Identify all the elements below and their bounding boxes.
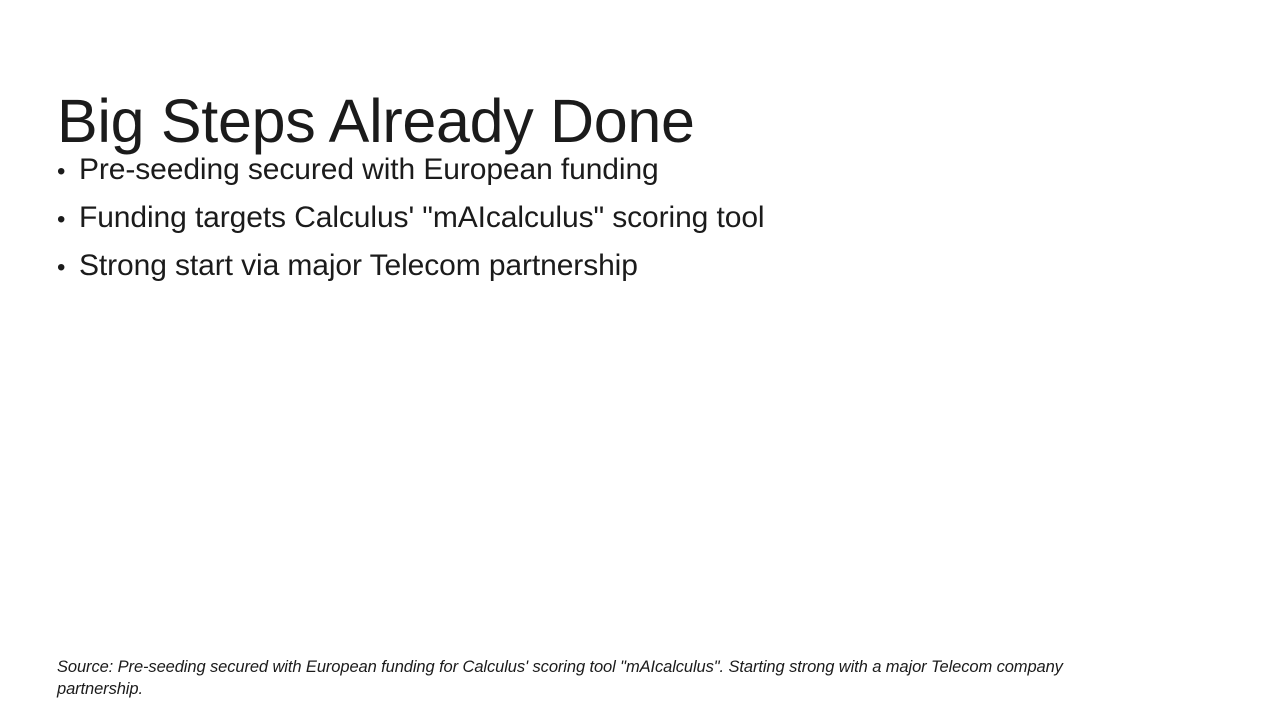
- list-item-label: Funding targets Calculus' "mAIcalculus" …: [79, 203, 764, 233]
- list-item-label: Strong start via major Telecom partnersh…: [79, 251, 638, 281]
- list-item-label: Pre-seeding secured with European fundin…: [79, 155, 659, 185]
- bullet-list: • Pre-seeding secured with European fund…: [57, 155, 1177, 299]
- list-item: • Funding targets Calculus' "mAIcalculus…: [57, 203, 1177, 251]
- page-title: Big Steps Already Done: [57, 89, 1157, 155]
- bullet-point-icon: •: [57, 208, 79, 232]
- list-item: • Strong start via major Telecom partner…: [57, 251, 1177, 299]
- bullet-point-icon: •: [57, 256, 79, 280]
- list-item: • Pre-seeding secured with European fund…: [57, 155, 1177, 203]
- slide-canvas: Big Steps Already Done • Pre-seeding sec…: [0, 0, 1280, 720]
- bullet-point-icon: •: [57, 160, 79, 184]
- source-note: Source: Pre-seeding secured with Europea…: [57, 657, 1072, 701]
